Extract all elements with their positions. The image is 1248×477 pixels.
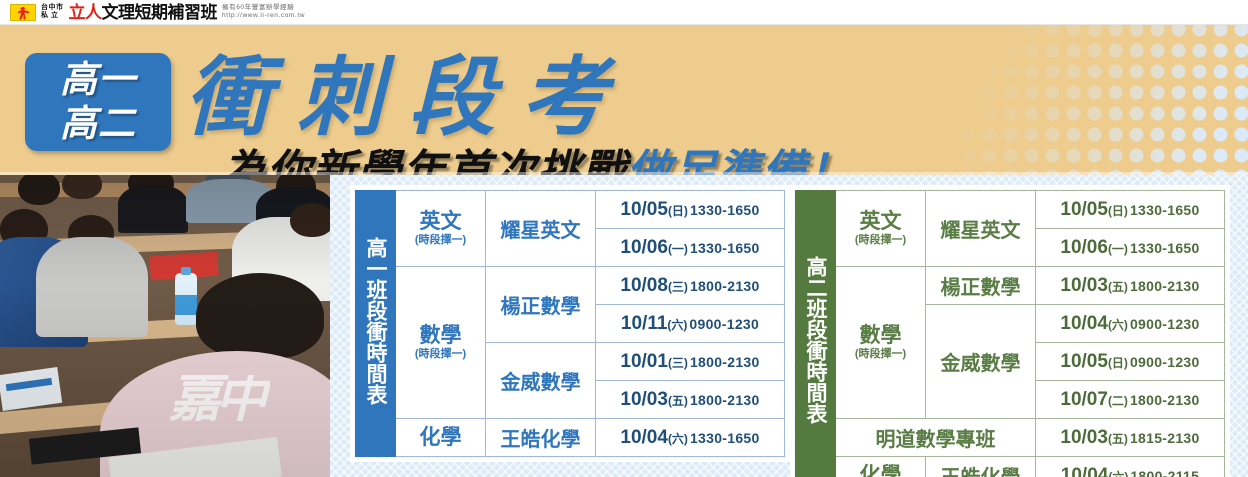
table-row: 高二班段衝時間表 英文 (時段擇一) 耀星英文 10/05(日)1330-165… (796, 191, 1225, 229)
date-value: 10/07 (1060, 389, 1108, 410)
subject-note: (時段擇一) (836, 234, 925, 247)
date-value: 10/04 (1060, 313, 1108, 334)
weekday-value: (一) (1108, 242, 1128, 256)
teacher-cell: 金威數學 (486, 343, 596, 419)
schedule-table-grade1: 高一班段衝時間表 英文 (時段擇一) 耀星英文 10/05(日)1330-165… (355, 190, 785, 457)
hero-subtitle-dark: 為你新學年首次挑戰 (222, 147, 627, 175)
teacher-cell: 王皓化學 (926, 457, 1036, 477)
date-value: 10/05 (620, 199, 668, 220)
time-value: 1800-2130 (1130, 392, 1200, 408)
date-cell: 10/08(三)1800-2130 (596, 267, 785, 305)
date-cell: 10/05(日)0900-1230 (1036, 343, 1225, 381)
hero-title: 衝刺段考 (185, 51, 633, 145)
hero-banner: 高一 高二 衝刺段考 為你新學年首次挑戰做足準備！ (0, 25, 1248, 175)
special-class-cell: 明道數學專班 (836, 419, 1036, 457)
subject-cell: 英文 (時段擇一) (396, 191, 486, 267)
table-row: 數學 (時段擇一) 楊正數學 10/03(五)1800-2130 (796, 267, 1225, 305)
date-cell: 10/01(三)1800-2130 (596, 343, 785, 381)
teacher-cell: 楊正數學 (926, 267, 1036, 305)
weekday-value: (一) (668, 242, 688, 256)
subject-name: 英文 (860, 210, 902, 233)
school-tagline-experience: 擁有60年豐富辦學經驗 (222, 4, 305, 12)
school-website-url[interactable]: http://www.li-ren.com.tw (222, 12, 305, 20)
date-value: 10/06 (1060, 237, 1108, 258)
weekday-value: (日) (1108, 204, 1128, 218)
poster-root: 台中市 私 立 立人文理短期補習班 擁有60年豐富辦學經驗 http://www… (0, 0, 1248, 477)
subject-name: 數學 (860, 324, 902, 347)
date-value: 10/04 (1061, 465, 1109, 477)
table-row: 化學 王皓化學 10/04(六)1330-1650 (356, 419, 785, 457)
time-value: 1330-1650 (690, 240, 760, 256)
time-value: 1800-2130 (690, 278, 760, 294)
date-cell: 10/05(日)1330-1650 (1036, 191, 1225, 229)
table-row: 數學 (時段擇一) 楊正數學 10/08(三)1800-2130 (356, 267, 785, 305)
time-value: 1800-2115 (1130, 468, 1199, 477)
date-value: 10/04 (620, 427, 668, 448)
school-header-bar: 台中市 私 立 立人文理短期補習班 擁有60年豐富辦學經驗 http://www… (0, 0, 1248, 25)
vertical-header-text: 高一班段衝時間表 (363, 237, 388, 405)
date-value: 10/05 (1060, 351, 1108, 372)
time-value: 0900-1230 (1130, 354, 1200, 370)
subject-cell: 化學 (836, 457, 926, 477)
weekday-value: (三) (668, 280, 688, 294)
date-cell: 10/04(六)1800-2115 (1036, 457, 1225, 477)
table-vertical-header-grade2: 高二班段衝時間表 (796, 191, 836, 477)
time-value: 1815-2130 (1130, 430, 1200, 446)
time-value: 1800-2130 (1130, 278, 1200, 294)
time-value: 1330-1650 (690, 202, 760, 218)
weekday-value: (三) (668, 356, 688, 370)
date-cell: 10/03(五)1815-2130 (1036, 419, 1225, 457)
weekday-value: (日) (668, 204, 688, 218)
time-value: 1330-1650 (690, 430, 760, 446)
photo-vignette (0, 175, 330, 477)
date-cell: 10/06(一)1330-1650 (596, 229, 785, 267)
subject-name: 數學 (420, 324, 462, 347)
classroom-photo: 嘉中 (0, 175, 330, 477)
school-city-label: 台中市 私 立 (41, 4, 64, 21)
date-cell: 10/04(六)0900-1230 (1036, 305, 1225, 343)
teacher-cell: 耀星英文 (486, 191, 596, 267)
date-cell: 10/04(六)1330-1650 (596, 419, 785, 457)
date-value: 10/03 (1060, 275, 1108, 296)
weekday-value: (六) (1108, 470, 1128, 477)
vertical-header-text: 高二班段衝時間表 (803, 256, 828, 424)
time-value: 1330-1650 (1130, 202, 1200, 218)
weekday-value: (五) (668, 394, 688, 408)
subject-note: (時段擇一) (396, 234, 485, 247)
table-row: 高一班段衝時間表 英文 (時段擇一) 耀星英文 10/05(日)1330-165… (356, 191, 785, 229)
date-value: 10/06 (620, 237, 668, 258)
date-value: 10/01 (620, 351, 668, 372)
school-city-line1: 台中市 (41, 4, 64, 13)
school-tagline: 擁有60年豐富辦學經驗 http://www.li-ren.com.tw (222, 4, 305, 21)
teacher-cell: 耀星英文 (926, 191, 1036, 267)
school-name-black: 文理短期補習班 (102, 3, 218, 22)
table-vertical-header-grade1: 高一班段衝時間表 (356, 191, 396, 457)
subject-note: (時段擇一) (396, 348, 485, 361)
weekday-value: (六) (667, 318, 687, 332)
weekday-value: (日) (1108, 356, 1128, 370)
subject-cell: 數學 (時段擇一) (396, 267, 486, 419)
school-name: 立人文理短期補習班 (69, 3, 218, 22)
school-logo-icon (10, 4, 36, 21)
grade-badge-line2: 高二 (60, 103, 136, 145)
schedule-table-grade2: 高二班段衝時間表 英文 (時段擇一) 耀星英文 10/05(日)1330-165… (795, 190, 1225, 477)
subject-cell: 化學 (396, 419, 486, 457)
date-value: 10/11 (621, 313, 668, 334)
weekday-value: (五) (1108, 280, 1128, 294)
date-value: 10/03 (620, 389, 668, 410)
grade-badge: 高一 高二 (25, 53, 171, 151)
date-cell: 10/06(一)1330-1650 (1036, 229, 1225, 267)
date-cell: 10/11(六)0900-1230 (596, 305, 785, 343)
school-city-line2: 私 立 (41, 12, 64, 21)
schedule-table: 高二班段衝時間表 英文 (時段擇一) 耀星英文 10/05(日)1330-165… (795, 190, 1225, 477)
school-name-red: 立人 (69, 3, 102, 22)
table-row: 化學 王皓化學 10/04(六)1800-2115 (796, 457, 1225, 477)
teacher-cell: 王皓化學 (486, 419, 596, 457)
halftone-dots-decoration (958, 25, 1248, 175)
date-value: 10/08 (620, 275, 668, 296)
date-value: 10/05 (1060, 199, 1108, 220)
date-cell: 10/07(二)1800-2130 (1036, 381, 1225, 419)
date-cell: 10/03(五)1800-2130 (1036, 267, 1225, 305)
weekday-value: (六) (1108, 318, 1128, 332)
date-cell: 10/05(日)1330-1650 (596, 191, 785, 229)
weekday-value: (六) (668, 432, 688, 446)
time-value: 1800-2130 (690, 392, 760, 408)
subject-cell: 數學 (時段擇一) (836, 267, 926, 419)
time-value: 1330-1650 (1130, 240, 1200, 256)
date-value: 10/03 (1060, 427, 1108, 448)
grade-badge-line1: 高一 (60, 59, 136, 101)
subject-name: 英文 (420, 210, 462, 233)
hero-subtitle-blue: 做足準備！ (627, 147, 852, 175)
time-value: 0900-1230 (689, 316, 759, 332)
weekday-value: (五) (1108, 432, 1128, 446)
teacher-cell: 楊正數學 (486, 267, 596, 343)
time-value: 0900-1230 (1130, 316, 1200, 332)
subject-cell: 英文 (時段擇一) (836, 191, 926, 267)
hero-subtitle: 為你新學年首次挑戰做足準備！ (222, 147, 852, 175)
subject-note: (時段擇一) (836, 348, 925, 361)
schedule-table: 高一班段衝時間表 英文 (時段擇一) 耀星英文 10/05(日)1330-165… (355, 190, 785, 457)
date-cell: 10/03(五)1800-2130 (596, 381, 785, 419)
weekday-value: (二) (1108, 394, 1128, 408)
teacher-cell: 金威數學 (926, 305, 1036, 419)
table-row: 明道數學專班 10/03(五)1815-2130 (796, 419, 1225, 457)
time-value: 1800-2130 (690, 354, 760, 370)
